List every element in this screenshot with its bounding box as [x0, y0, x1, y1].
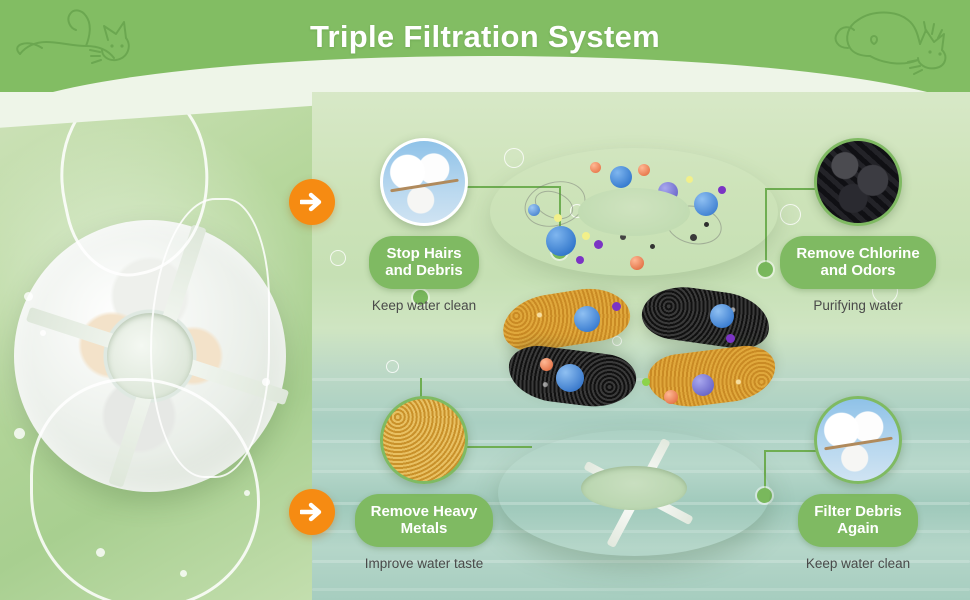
feature-filter-debris-again[interactable]: Filter Debris Again Keep water clean: [768, 396, 948, 571]
badge-line-1: Remove Heavy: [371, 503, 478, 520]
water-droplet: [24, 292, 33, 301]
water-droplet: [14, 428, 25, 439]
arrow-right-icon: [300, 501, 324, 523]
cat-sitting-icon: [822, 4, 952, 82]
infographic-root: Triple Filtration System: [0, 0, 970, 600]
feature-remove-chlorine[interactable]: Remove Chlorine and Odors Purifying wate…: [768, 138, 948, 313]
water-droplet: [180, 570, 187, 577]
feature-caption: Improve water taste: [334, 556, 514, 571]
cotton-ball-photo: [814, 396, 902, 484]
feature-remove-heavy-metals[interactable]: Remove Heavy Metals Improve water taste: [334, 396, 514, 571]
feature-label-badge[interactable]: Filter Debris Again: [798, 494, 918, 547]
product-photo-panel: [0, 78, 312, 600]
filter-wedge-carbon: [639, 281, 773, 352]
feature-label-badge[interactable]: Remove Heavy Metals: [355, 494, 494, 547]
filter-layer-cotton: [490, 148, 778, 276]
water-droplet: [262, 378, 270, 386]
diagram-panel: Stop Hairs and Debris Keep water clean R…: [312, 78, 970, 600]
badge-line-1: Filter Debris: [814, 503, 902, 520]
feature-stop-hairs[interactable]: Stop Hairs and Debris Keep water clean: [334, 138, 514, 313]
feature-label-badge[interactable]: Remove Chlorine and Odors: [780, 236, 935, 289]
bubble-icon: [386, 360, 399, 373]
header-banner: Triple Filtration System: [0, 0, 970, 92]
water-droplet: [96, 548, 105, 557]
arrow-top[interactable]: [289, 179, 335, 225]
arrow-right-icon: [300, 191, 324, 213]
badge-line-2: Again: [837, 520, 879, 537]
arrow-bottom[interactable]: [289, 489, 335, 535]
water-droplet: [244, 490, 250, 496]
badge-line-1: Stop Hairs: [386, 245, 461, 262]
badge-line-2: Metals: [401, 520, 448, 537]
filter-base-tray: [498, 430, 770, 556]
water-droplet: [40, 330, 46, 336]
badge-line-1: Remove Chlorine: [796, 245, 919, 262]
feature-caption: Keep water clean: [334, 298, 514, 313]
cotton-ball-photo: [380, 138, 468, 226]
feature-label-badge[interactable]: Stop Hairs and Debris: [369, 236, 479, 289]
feature-caption: Keep water clean: [768, 556, 948, 571]
activated-carbon-photo: [814, 138, 902, 226]
feature-caption: Purifying water: [768, 298, 948, 313]
bubble-icon: [612, 336, 622, 346]
badge-line-2: and Odors: [820, 262, 895, 279]
ion-exchange-resin-photo: [380, 396, 468, 484]
badge-line-2: and Debris: [385, 262, 463, 279]
